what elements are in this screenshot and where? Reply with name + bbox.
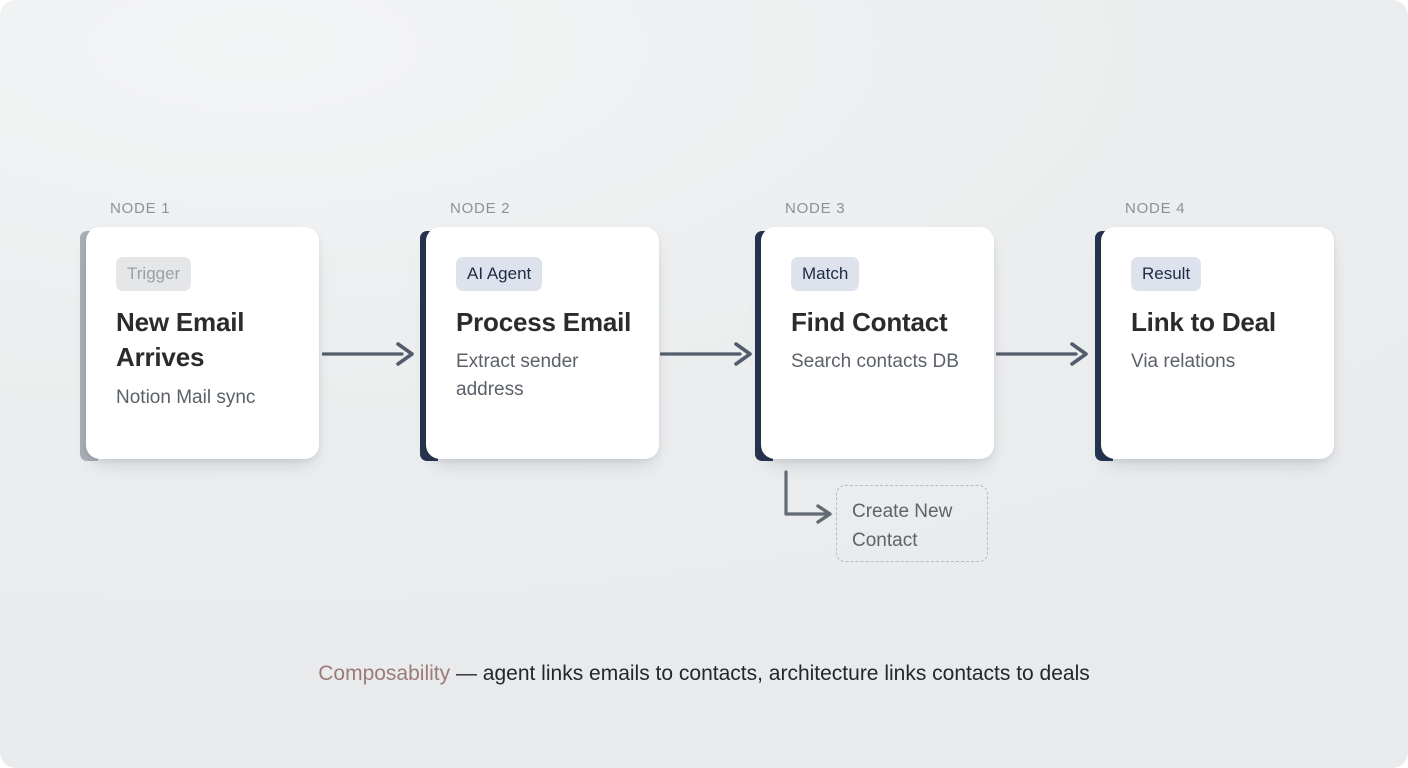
node-3-card[interactable]: Match Find Contact Search contacts DB (761, 227, 994, 459)
node-3-label: NODE 3 (785, 200, 994, 217)
node-4-badge: Result (1131, 257, 1201, 291)
node-2-badge: AI Agent (456, 257, 542, 291)
caption-separator: — (450, 662, 483, 685)
node-2-card-wrap: AI Agent Process Email Extract sender ad… (420, 227, 659, 461)
arrow-right-icon (322, 340, 418, 368)
connector-node1-node2 (322, 340, 418, 368)
caption-text: agent links emails to contacts, architec… (483, 662, 1090, 685)
node-2[interactable]: NODE 2 AI Agent Process Email Extract se… (420, 200, 659, 461)
caption: Composability — agent links emails to co… (0, 660, 1408, 687)
node-1-card-wrap: Trigger New Email Arrives Notion Mail sy… (80, 227, 319, 461)
node-1-card[interactable]: Trigger New Email Arrives Notion Mail sy… (86, 227, 319, 459)
node-1-badge: Trigger (116, 257, 191, 291)
node-4[interactable]: NODE 4 Result Link to Deal Via relations (1095, 200, 1334, 461)
elbow-arrow-down-right-icon (782, 470, 842, 532)
diagram-canvas: NODE 1 Trigger New Email Arrives Notion … (0, 0, 1408, 768)
node-4-card[interactable]: Result Link to Deal Via relations (1101, 227, 1334, 459)
node-1[interactable]: NODE 1 Trigger New Email Arrives Notion … (80, 200, 319, 461)
node-2-label: NODE 2 (450, 200, 659, 217)
node-1-title: New Email Arrives (116, 305, 293, 376)
connector-node3-node4 (996, 340, 1092, 368)
node-4-label: NODE 4 (1125, 200, 1334, 217)
node-2-title: Process Email (456, 305, 633, 340)
node-flow: NODE 1 Trigger New Email Arrives Notion … (0, 0, 1408, 768)
node-4-title: Link to Deal (1131, 305, 1308, 340)
node-4-card-wrap: Result Link to Deal Via relations (1095, 227, 1334, 461)
node-2-subtitle: Extract sender address (456, 348, 633, 404)
node-1-label: NODE 1 (110, 200, 319, 217)
arrow-right-icon (996, 340, 1092, 368)
branch-fallback-label: Create New Contact (852, 498, 972, 555)
node-3-badge: Match (791, 257, 859, 291)
node-3-subtitle: Search contacts DB (791, 348, 968, 376)
node-2-card[interactable]: AI Agent Process Email Extract sender ad… (426, 227, 659, 459)
caption-keyword: Composability (318, 662, 450, 685)
node-3[interactable]: NODE 3 Match Find Contact Search contact… (755, 200, 994, 461)
node-4-subtitle: Via relations (1131, 348, 1308, 376)
branch-elbow-arrow-icon (782, 470, 842, 532)
connector-node2-node3 (660, 340, 756, 368)
arrow-right-icon (660, 340, 756, 368)
branch-fallback-box[interactable]: Create New Contact (836, 485, 988, 562)
node-1-subtitle: Notion Mail sync (116, 384, 293, 412)
node-3-card-wrap: Match Find Contact Search contacts DB (755, 227, 994, 461)
node-3-title: Find Contact (791, 305, 968, 340)
